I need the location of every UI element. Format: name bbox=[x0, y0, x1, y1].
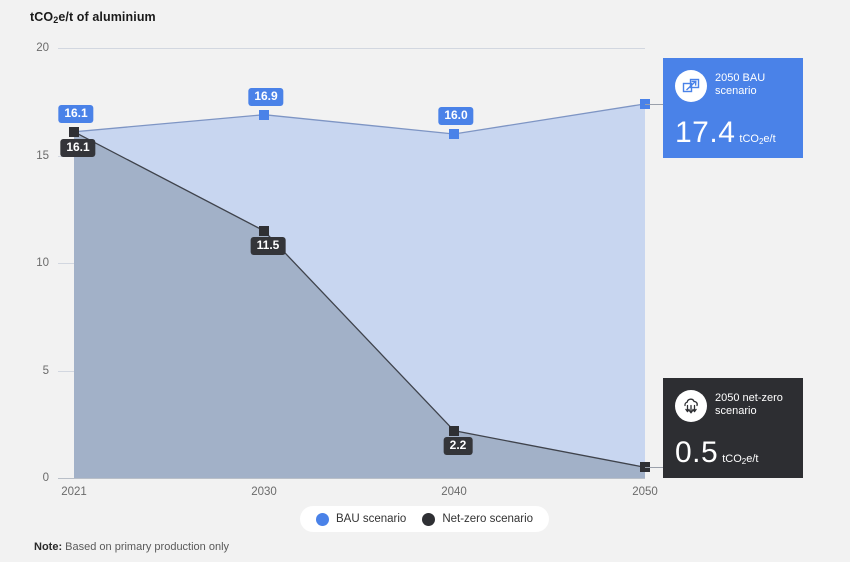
series-svg bbox=[58, 48, 645, 478]
callout-bau-title: 2050 BAU scenario bbox=[715, 70, 791, 98]
legend-label-netzero: Net-zero scenario bbox=[442, 513, 533, 525]
netzero-label-2021: 16.1 bbox=[60, 139, 95, 157]
ytick-10: 10 bbox=[36, 257, 49, 269]
netzero-connector bbox=[645, 467, 665, 468]
xtick-2050: 2050 bbox=[632, 486, 658, 498]
callout-netzero-value-group: 0.5 tCO2e/t bbox=[675, 438, 758, 468]
legend-dot-bau-icon bbox=[316, 513, 329, 526]
chart-note: Note: Based on primary production only bbox=[34, 541, 229, 553]
callout-netzero-value: 0.5 bbox=[675, 438, 718, 468]
callout-bau-value: 17.4 bbox=[675, 118, 735, 148]
netzero-marker-2021[interactable] bbox=[69, 127, 79, 137]
ytick-20: 20 bbox=[36, 42, 49, 54]
xtick-2021: 2021 bbox=[61, 486, 87, 498]
netzero-label-2040: 2.2 bbox=[444, 437, 473, 455]
plot-area: 20 15 10 5 0 2021 2030 2040 2050 bbox=[58, 48, 645, 478]
bau-label-2040: 16.0 bbox=[438, 107, 473, 125]
gridline-0: 0 bbox=[58, 478, 645, 479]
callout-netzero-unit: tCO2e/t bbox=[722, 453, 758, 466]
bau-label-2030: 16.9 bbox=[248, 88, 283, 106]
ytick-0: 0 bbox=[43, 472, 49, 484]
legend-dot-netzero-icon bbox=[422, 513, 435, 526]
legend-label-bau: BAU scenario bbox=[336, 513, 406, 525]
xtick-2040: 2040 bbox=[441, 486, 467, 498]
callout-netzero-title: 2050 net-zero scenario bbox=[715, 390, 791, 418]
ytick-5: 5 bbox=[43, 365, 49, 377]
callout-bau-unit: tCO2e/t bbox=[739, 133, 775, 146]
netzero-marker-2030[interactable] bbox=[259, 226, 269, 236]
bau-connector bbox=[645, 104, 665, 105]
legend-item-bau[interactable]: BAU scenario bbox=[316, 513, 406, 526]
netzero-marker-2040[interactable] bbox=[449, 426, 459, 436]
callout-bau-value-group: 17.4 tCO2e/t bbox=[675, 118, 776, 148]
legend-item-netzero[interactable]: Net-zero scenario bbox=[422, 513, 533, 526]
xtick-2030: 2030 bbox=[251, 486, 277, 498]
callout-bau-2050[interactable]: 2050 BAU scenario 17.4 tCO2e/t bbox=[663, 58, 803, 158]
bau-marker-2040[interactable] bbox=[449, 129, 459, 139]
emissions-cloud-icon bbox=[675, 390, 707, 422]
ytick-15: 15 bbox=[36, 150, 49, 162]
chart-note-label: Note: bbox=[34, 541, 62, 553]
legend: BAU scenario Net-zero scenario bbox=[300, 506, 549, 532]
netzero-label-2030: 11.5 bbox=[251, 237, 286, 255]
bau-marker-2030[interactable] bbox=[259, 110, 269, 120]
chart-root: tCO2e/t of aluminium 20 15 10 5 0 2021 2… bbox=[0, 0, 850, 562]
callout-netzero-2050[interactable]: 2050 net-zero scenario 0.5 tCO2e/t bbox=[663, 378, 803, 478]
bau-label-2021: 16.1 bbox=[58, 105, 93, 123]
chart-note-text: Based on primary production only bbox=[62, 541, 229, 553]
page-title: tCO2e/t of aluminium bbox=[30, 10, 156, 25]
growth-arrow-icon bbox=[675, 70, 707, 102]
